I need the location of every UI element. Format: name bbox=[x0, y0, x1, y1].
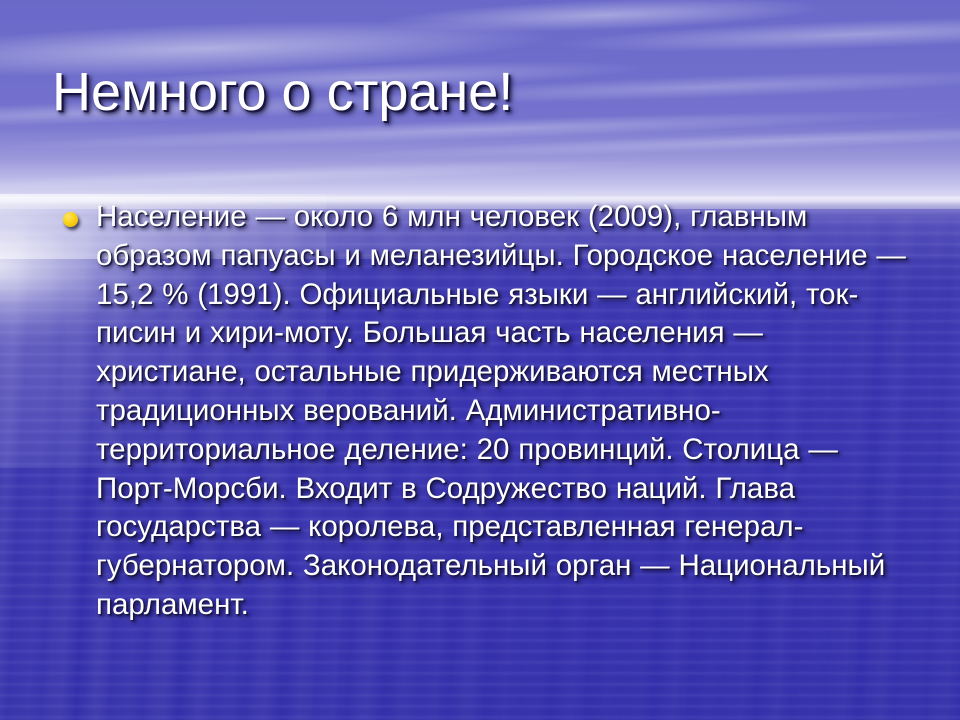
presentation-slide: Немного о стране! Население — около 6 мл… bbox=[0, 0, 960, 720]
slide-title: Немного о стране! bbox=[52, 64, 912, 121]
bullet-item-text: Население — около 6 млн человек (2009), … bbox=[96, 198, 908, 625]
slide-body: Население — около 6 млн человек (2009), … bbox=[52, 198, 908, 625]
bullet-dot-icon bbox=[63, 212, 78, 227]
bullet-list-item: Население — около 6 млн человек (2009), … bbox=[52, 198, 908, 625]
slide-content: Немного о стране! Население — около 6 мл… bbox=[0, 0, 960, 720]
